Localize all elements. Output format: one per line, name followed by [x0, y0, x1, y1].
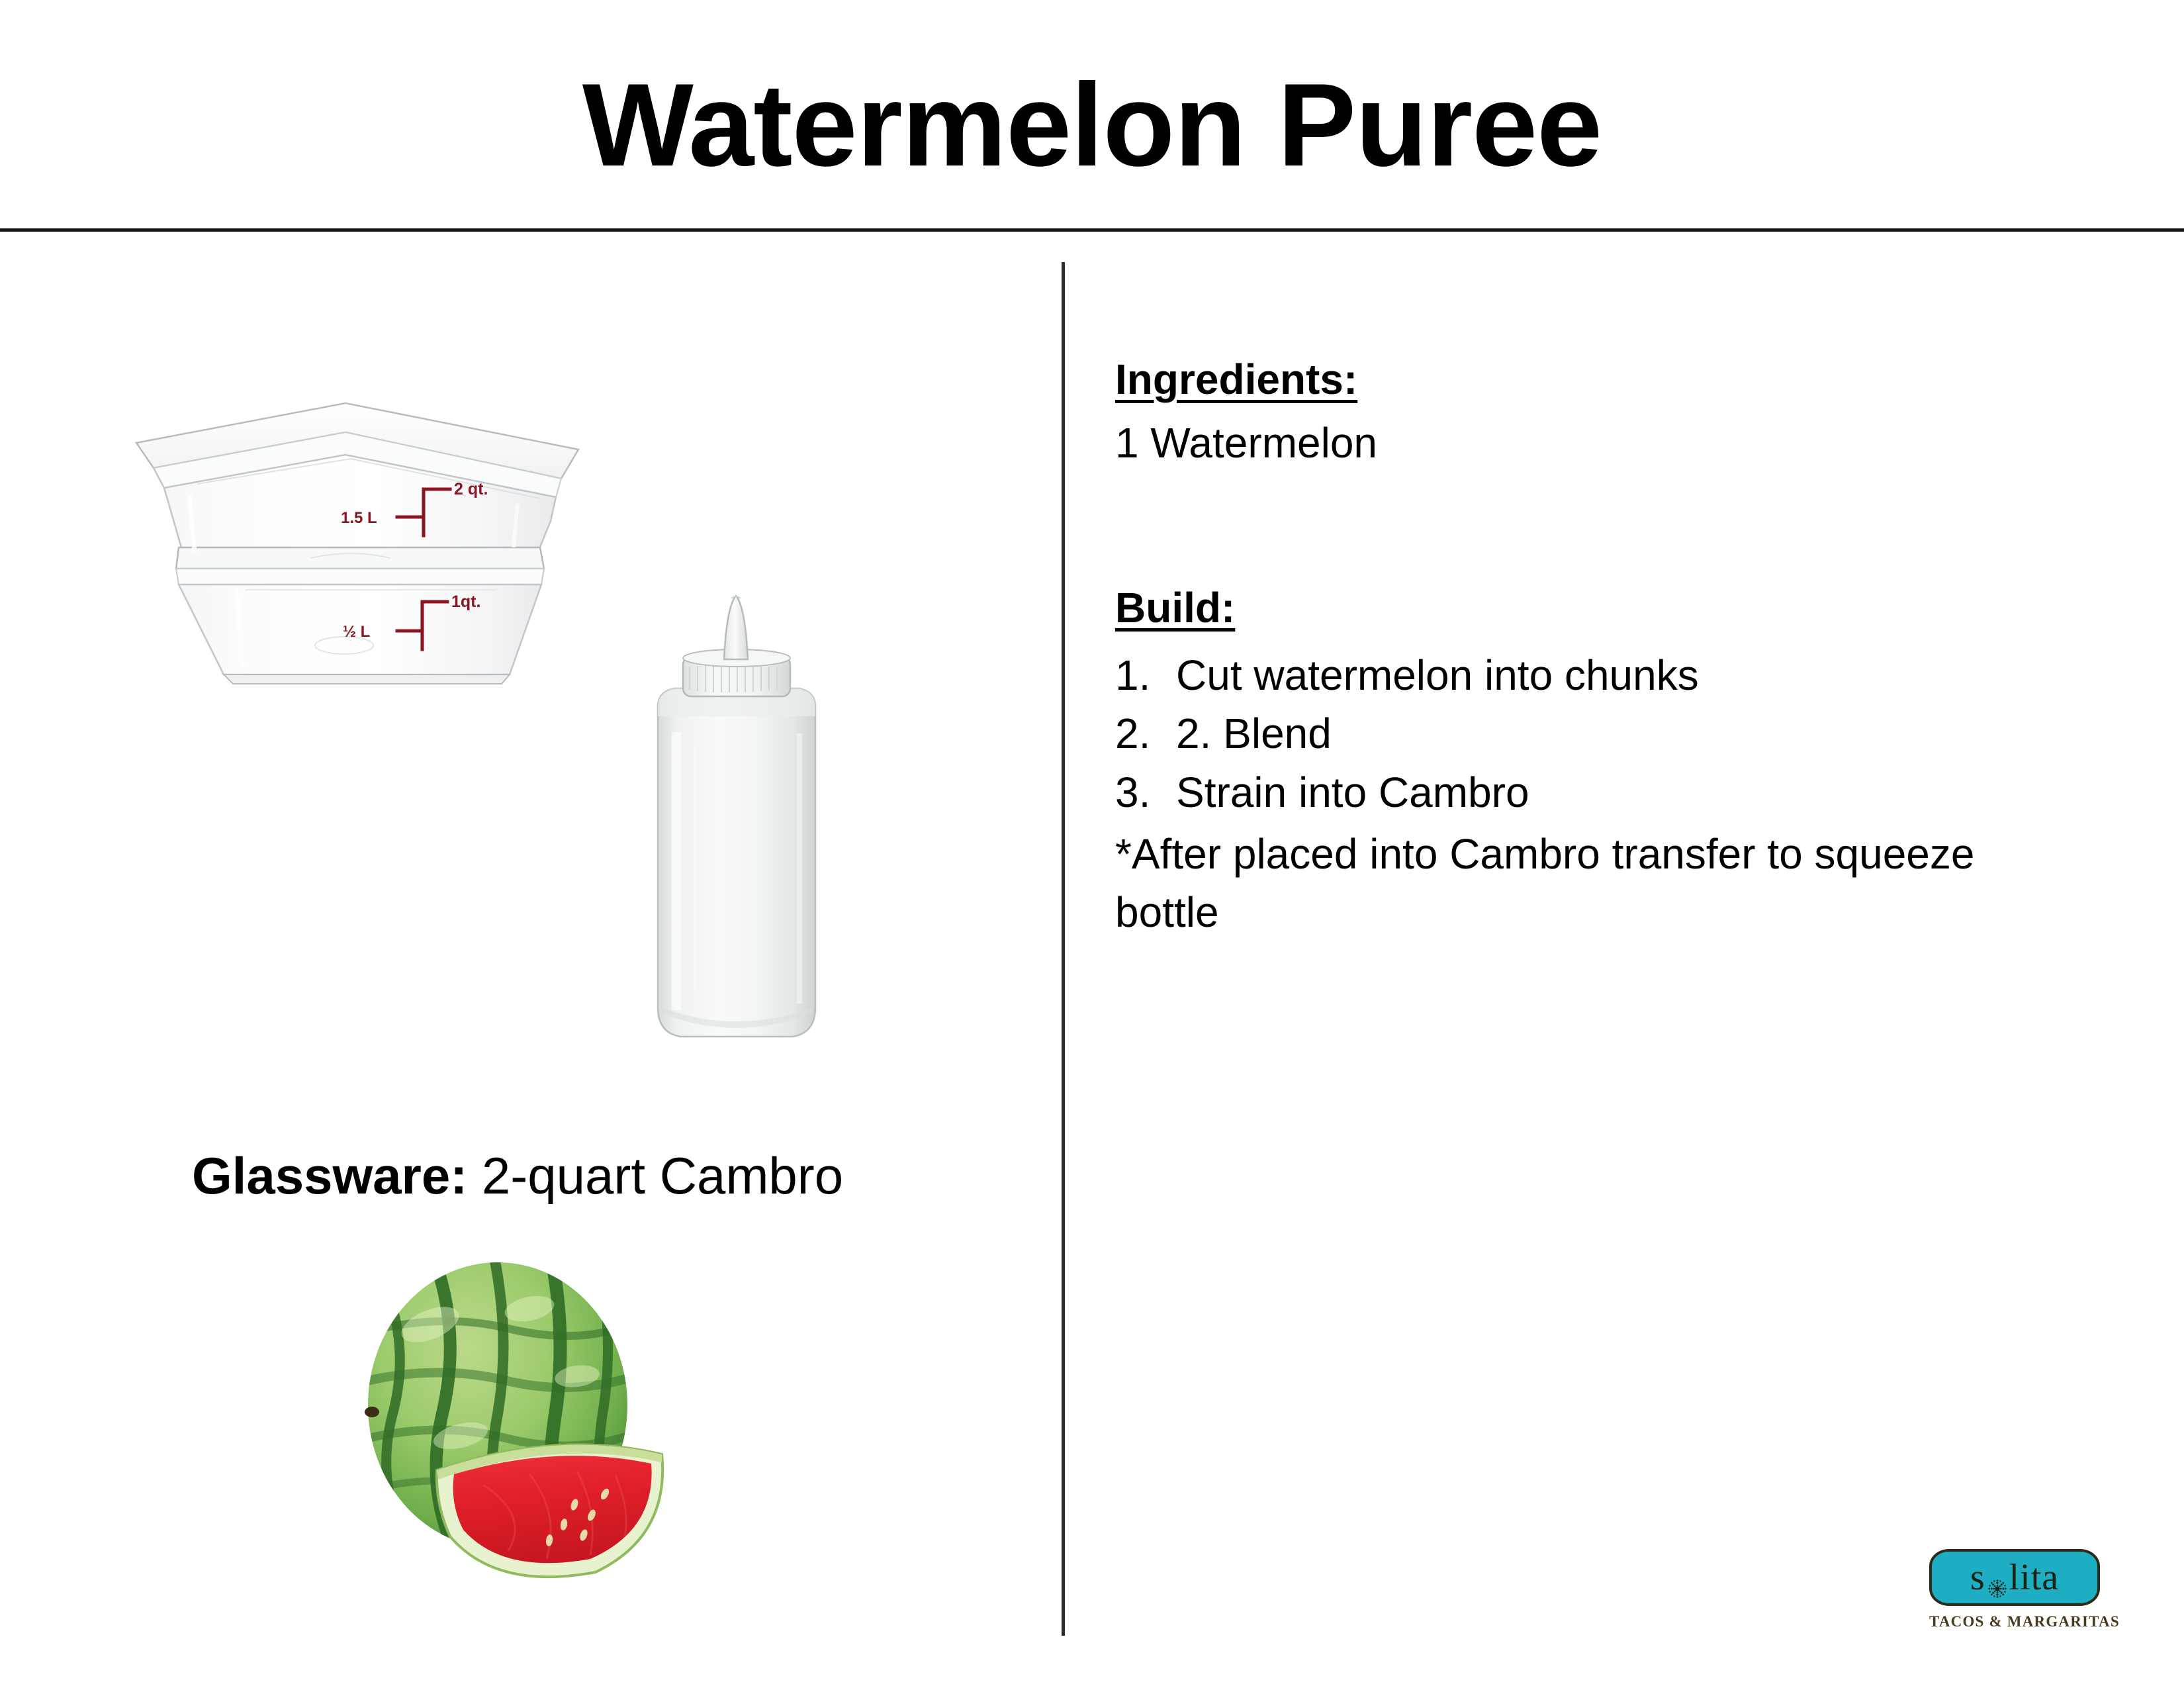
- left-column: 2 qt. 1.5 L 1qt. ½ L: [0, 262, 1062, 1688]
- graduation-1-5l: 1.5 L: [341, 509, 377, 527]
- build-heading: Build:: [1115, 583, 1235, 633]
- column-divider: [1062, 262, 1065, 1636]
- graduation-2qt: 2 qt.: [454, 480, 488, 498]
- watermelon-image: [331, 1252, 748, 1589]
- build-step-1: 1. Cut watermelon into chunks: [1115, 646, 2055, 704]
- page-title: Watermelon Puree: [0, 64, 2184, 187]
- glassware-caption: Glassware: 2-quart Cambro: [192, 1144, 843, 1209]
- brand-logo: s: [1929, 1549, 2108, 1642]
- build-step-3: 3. Strain into Cambro: [1115, 763, 2055, 821]
- ingredients-list: 1 Watermelon: [1115, 414, 2042, 471]
- glassware-label: Glassware:: [192, 1147, 467, 1205]
- build-step-number: 2.: [1115, 704, 1176, 763]
- header-divider: [0, 228, 2184, 232]
- graduation-half-l: ½ L: [343, 623, 370, 641]
- logo-wordmark-after: lita: [2009, 1559, 2060, 1596]
- build-step-number: 3.: [1115, 763, 1176, 821]
- logo-wordmark-before: s: [1970, 1559, 1985, 1596]
- build-step-text: Strain into Cambro: [1176, 763, 2055, 821]
- logo-badge: s: [1929, 1549, 2100, 1606]
- glassware-value: 2-quart Cambro: [482, 1147, 843, 1205]
- squeeze-bottle-image: [634, 580, 839, 1050]
- logo-tagline: TACOS & MARGARITAS: [1929, 1613, 2108, 1630]
- build-step-text: Cut watermelon into chunks: [1176, 646, 2055, 704]
- logo-wordmark: s: [1932, 1552, 2097, 1603]
- build-note: *After placed into Cambro transfer to sq…: [1115, 825, 2042, 942]
- cambro-container-image: 2 qt. 1.5 L 1qt. ½ L: [113, 391, 602, 689]
- graduation-1qt: 1qt.: [451, 592, 480, 611]
- ingredients-heading: Ingredients:: [1115, 355, 1357, 405]
- build-step-text: 2. Blend: [1176, 704, 2055, 763]
- build-steps-list: 1. Cut watermelon into chunks 2. 2. Blen…: [1115, 646, 2055, 821]
- ingredient-item: 1 Watermelon: [1115, 414, 2042, 471]
- sunburst-icon: [1986, 1570, 2009, 1592]
- build-step-2: 2. 2. Blend: [1115, 704, 2055, 763]
- build-step-number: 1.: [1115, 646, 1176, 704]
